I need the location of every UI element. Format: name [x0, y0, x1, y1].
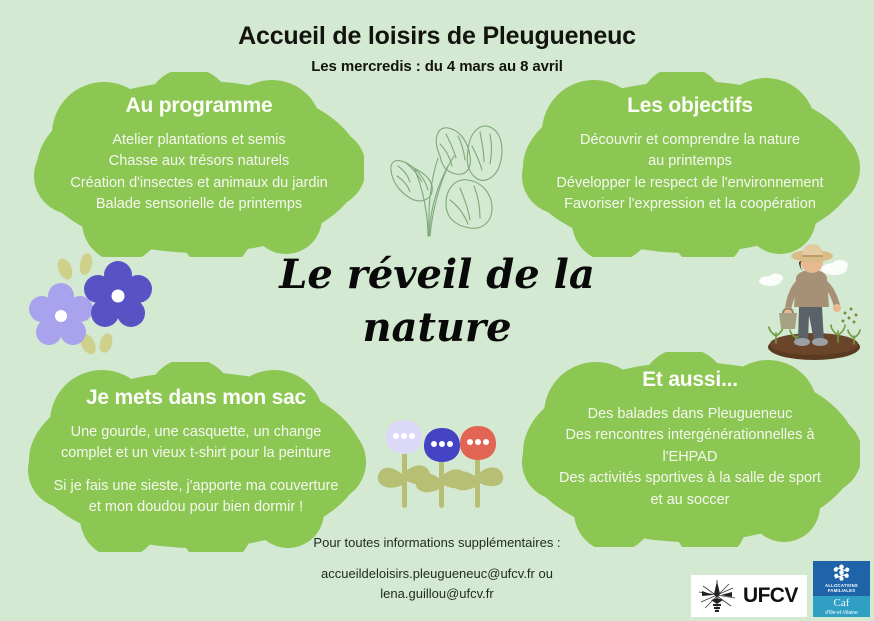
page-title: Accueil de loisirs de Pleugueneuc [0, 22, 874, 51]
cloud-shape-icon [34, 72, 364, 257]
caf-logo-top: ALLOCATIONS FAMILIALES [825, 561, 858, 596]
logo-row: UFCV [691, 561, 870, 617]
caf-department: d'Ille-et-Vilaine [825, 610, 858, 616]
cloud-panel-aussi: Et aussi... Des balades dans Pleugueneuc… [520, 352, 860, 547]
cloud-panel-objectifs: Les objectifs Découvrir et comprendre la… [520, 72, 860, 257]
cloud-shape-icon [520, 352, 860, 547]
footer-intro: Pour toutes informations supplémentaires… [187, 533, 687, 553]
cloud-shape-icon [520, 72, 860, 257]
caf-name: Caf [834, 598, 850, 609]
ufcv-wordmark: UFCV [743, 584, 798, 608]
ufcv-star-icon [693, 578, 741, 614]
footer-email-secondary[interactable]: lena.guillou@ufcv.fr [187, 584, 687, 604]
cloud-panel-programme: Au programme Atelier plantations et semi… [34, 72, 364, 257]
cloud-panel-sac: Je mets dans mon sac Une gourde, une cas… [26, 362, 366, 552]
caf-familiales-line: FAMILIALES [825, 588, 858, 593]
footer-spacer [187, 553, 687, 564]
poster-canvas: Accueil de loisirs de Pleugueneuc Les me… [0, 0, 874, 621]
caf-allocations-text: ALLOCATIONS FAMILIALES [825, 583, 858, 593]
purple-flowers-icon [26, 248, 166, 360]
monstera-plant-icon [388, 108, 506, 240]
main-title-line-2: nature [237, 302, 637, 355]
footer-email-primary[interactable]: accueildeloisirs.pleugueneuc@ufcv.fr ou [187, 564, 687, 584]
poster-header: Accueil de loisirs de Pleugueneuc Les me… [0, 22, 874, 75]
caf-snowflake-icon [830, 563, 853, 582]
ufcv-logo: UFCV [691, 575, 807, 617]
caf-logo-bottom: Caf d'Ille-et-Vilaine [813, 596, 870, 617]
cloud-shape-icon [26, 362, 366, 552]
footer-contact: Pour toutes informations supplémentaires… [187, 533, 687, 604]
main-title-line-1: Le réveil de la [237, 249, 637, 302]
caf-logo: ALLOCATIONS FAMILIALES Caf d'Ille-et-Vil… [813, 561, 870, 617]
three-tulips-icon [374, 414, 506, 516]
page-subtitle: Les mercredis : du 4 mars au 8 avril [0, 58, 874, 75]
main-title: Le réveil de la nature [237, 249, 637, 355]
gardener-sowing-icon [752, 243, 872, 361]
